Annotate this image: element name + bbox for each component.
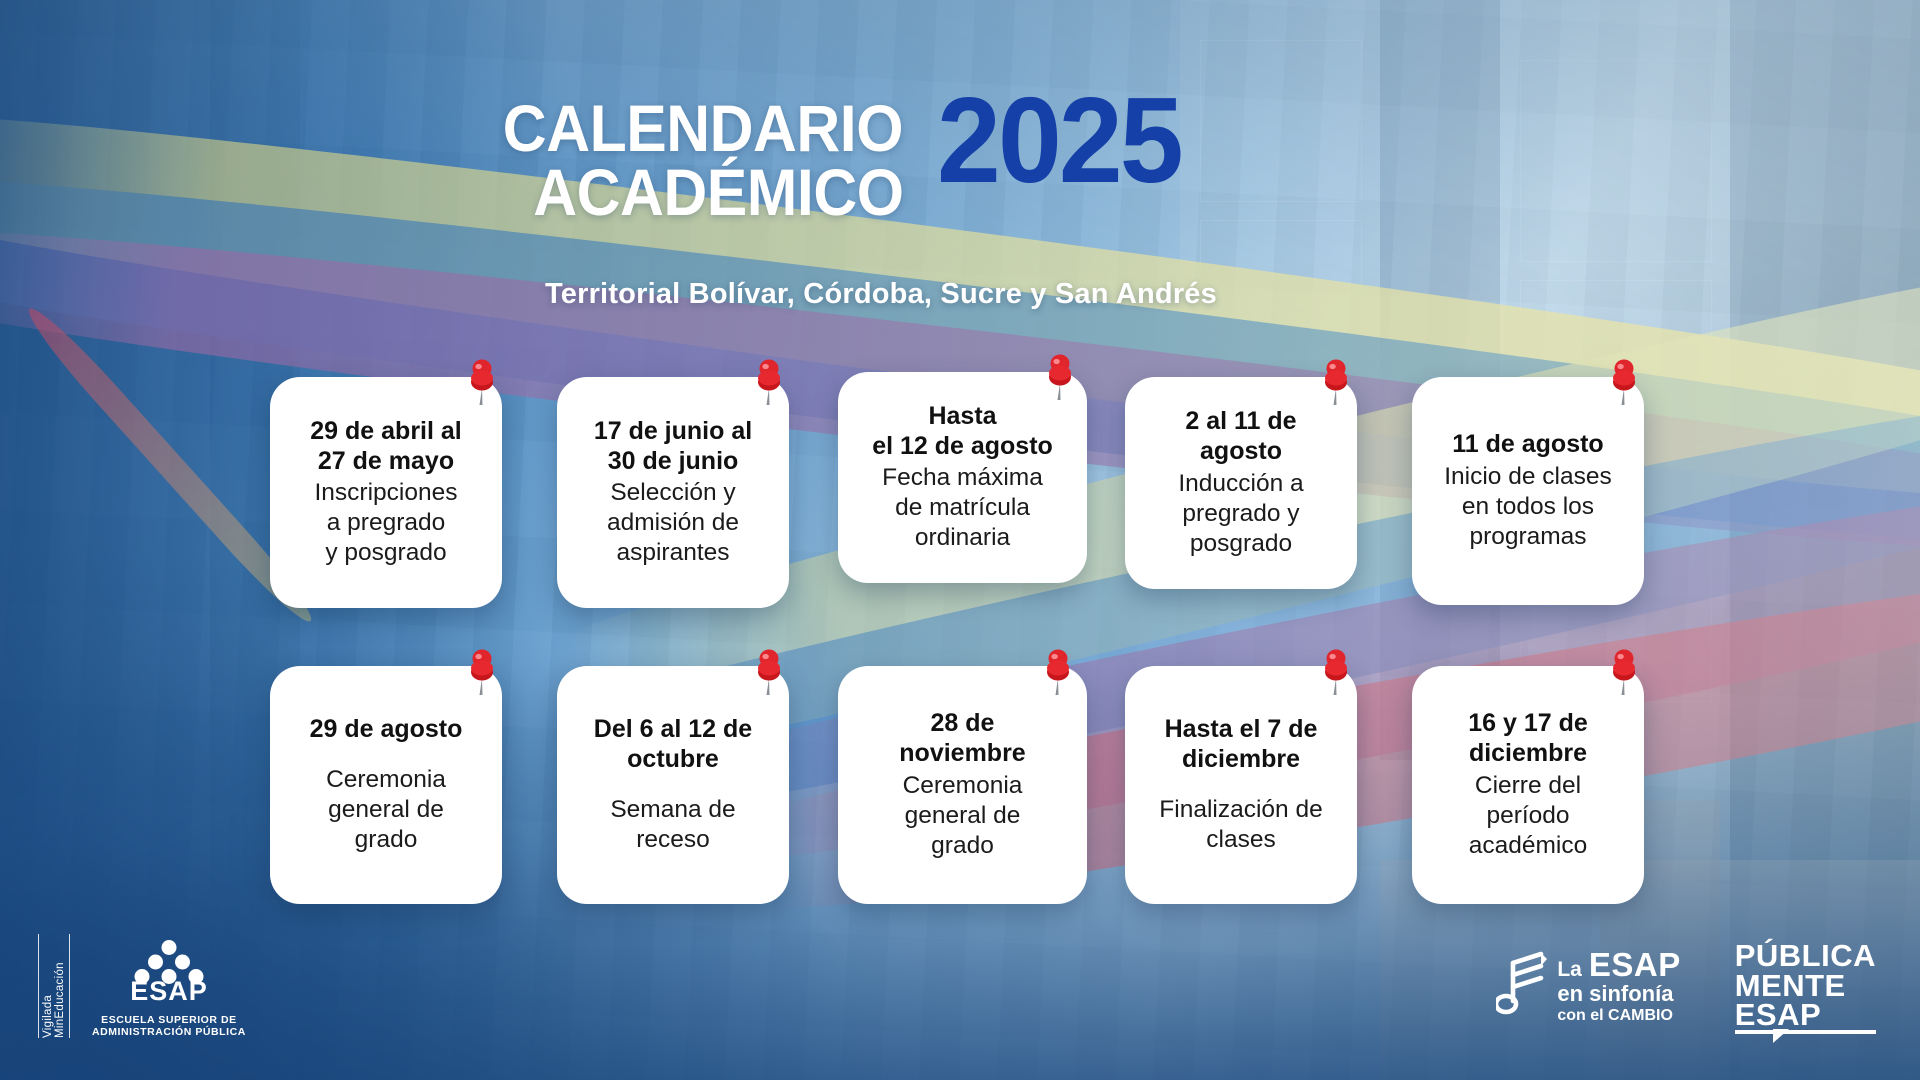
sinfonia-esap: ESAP (1589, 946, 1681, 984)
card-date: 16 y 17 de diciembre (1468, 709, 1588, 769)
card-description: Inicio de clases en todos los programas (1444, 462, 1612, 552)
card-date: 2 al 11 de agosto (1185, 407, 1296, 467)
esap-sinfonia-logo: La ESAP en sinfonía con el CAMBIO (1496, 946, 1680, 1025)
vigilada-mineducacion-label: Vigilada MinEducación (38, 934, 70, 1038)
calendar-card[interactable]: 29 de agosto Ceremonia general de grado (270, 666, 502, 904)
publicamente-line3: ESAP (1735, 1000, 1876, 1030)
card-date: Del 6 al 12 de octubre (594, 715, 752, 775)
speech-bubble-underline (1735, 1030, 1876, 1034)
sinfonia-line3: con el CAMBIO (1557, 1007, 1680, 1025)
calendar-card[interactable]: 28 de noviembre Ceremonia general de gra… (838, 666, 1087, 904)
publicamente-line1: PÚBLICA (1735, 941, 1876, 971)
card-date: Hasta el 12 de agosto (872, 402, 1053, 462)
sinfonia-line2: en sinfonía (1557, 982, 1680, 1005)
calendar-card[interactable]: 11 de agosto Inicio de clases en todos l… (1412, 377, 1644, 605)
card-date: 29 de abril al 27 de mayo (310, 417, 461, 477)
svg-text:ESAP: ESAP (130, 976, 208, 1006)
footer-right: La ESAP en sinfonía con el CAMBIO PÚBLIC… (1496, 941, 1876, 1030)
card-description: Ceremonia general de grado (903, 771, 1023, 861)
publicamente-esap-logo: PÚBLICA MENTE ESAP (1735, 941, 1876, 1030)
card-date: 11 de agosto (1452, 430, 1603, 460)
card-description: Inscripciones a pregrado y posgrado (315, 478, 458, 568)
publicamente-line2: MENTE (1735, 971, 1876, 1001)
calendar-card[interactable]: 17 de junio al 30 de junio Selección y a… (557, 377, 789, 608)
card-description: Selección y admisión de aspirantes (607, 478, 739, 568)
footer-left: Vigilada MinEducación ESAP ESCUELA SUPER… (38, 934, 246, 1038)
card-description: Ceremonia general de grado (326, 765, 446, 855)
card-date: 17 de junio al 30 de junio (594, 417, 752, 477)
calendar-card[interactable]: 16 y 17 de diciembre Cierre del período … (1412, 666, 1644, 904)
calendar-card[interactable]: Hasta el 12 de agosto Fecha máxima de ma… (838, 372, 1087, 583)
infographic-canvas: CALENDARIO ACADÉMICO 2025 Territorial Bo… (0, 0, 1920, 1080)
sinfonia-la: La (1557, 958, 1582, 982)
esap-dots-icon: ESAP (110, 940, 228, 1008)
music-note-pencil-icon (1496, 949, 1548, 1021)
calendar-card[interactable]: Hasta el 7 de diciembre Finalización de … (1125, 666, 1357, 904)
card-date: 29 de agosto (310, 715, 463, 745)
esap-tagline-line2: ADMINISTRACIÓN PÚBLICA (92, 1026, 246, 1038)
card-description: Finalización de clases (1159, 795, 1322, 855)
card-description: Fecha máxima de matrícula ordinaria (882, 463, 1043, 553)
calendar-card[interactable]: 2 al 11 de agosto Inducción a pregrado y… (1125, 377, 1357, 589)
esap-tagline-line1: ESCUELA SUPERIOR DE (92, 1014, 246, 1026)
card-description: Cierre del período académico (1469, 771, 1587, 861)
calendar-card[interactable]: Del 6 al 12 de octubre Semana de receso (557, 666, 789, 904)
calendar-cards: 29 de abril al 27 de mayo Inscripciones … (0, 0, 1920, 1080)
esap-logo: ESAP ESCUELA SUPERIOR DE ADMINISTRACIÓN … (92, 940, 246, 1038)
card-date: 28 de noviembre (899, 709, 1025, 769)
calendar-card[interactable]: 29 de abril al 27 de mayo Inscripciones … (270, 377, 502, 608)
card-description: Semana de receso (610, 795, 735, 855)
card-date: Hasta el 7 de diciembre (1165, 715, 1318, 775)
card-description: Inducción a pregrado y posgrado (1178, 469, 1303, 559)
